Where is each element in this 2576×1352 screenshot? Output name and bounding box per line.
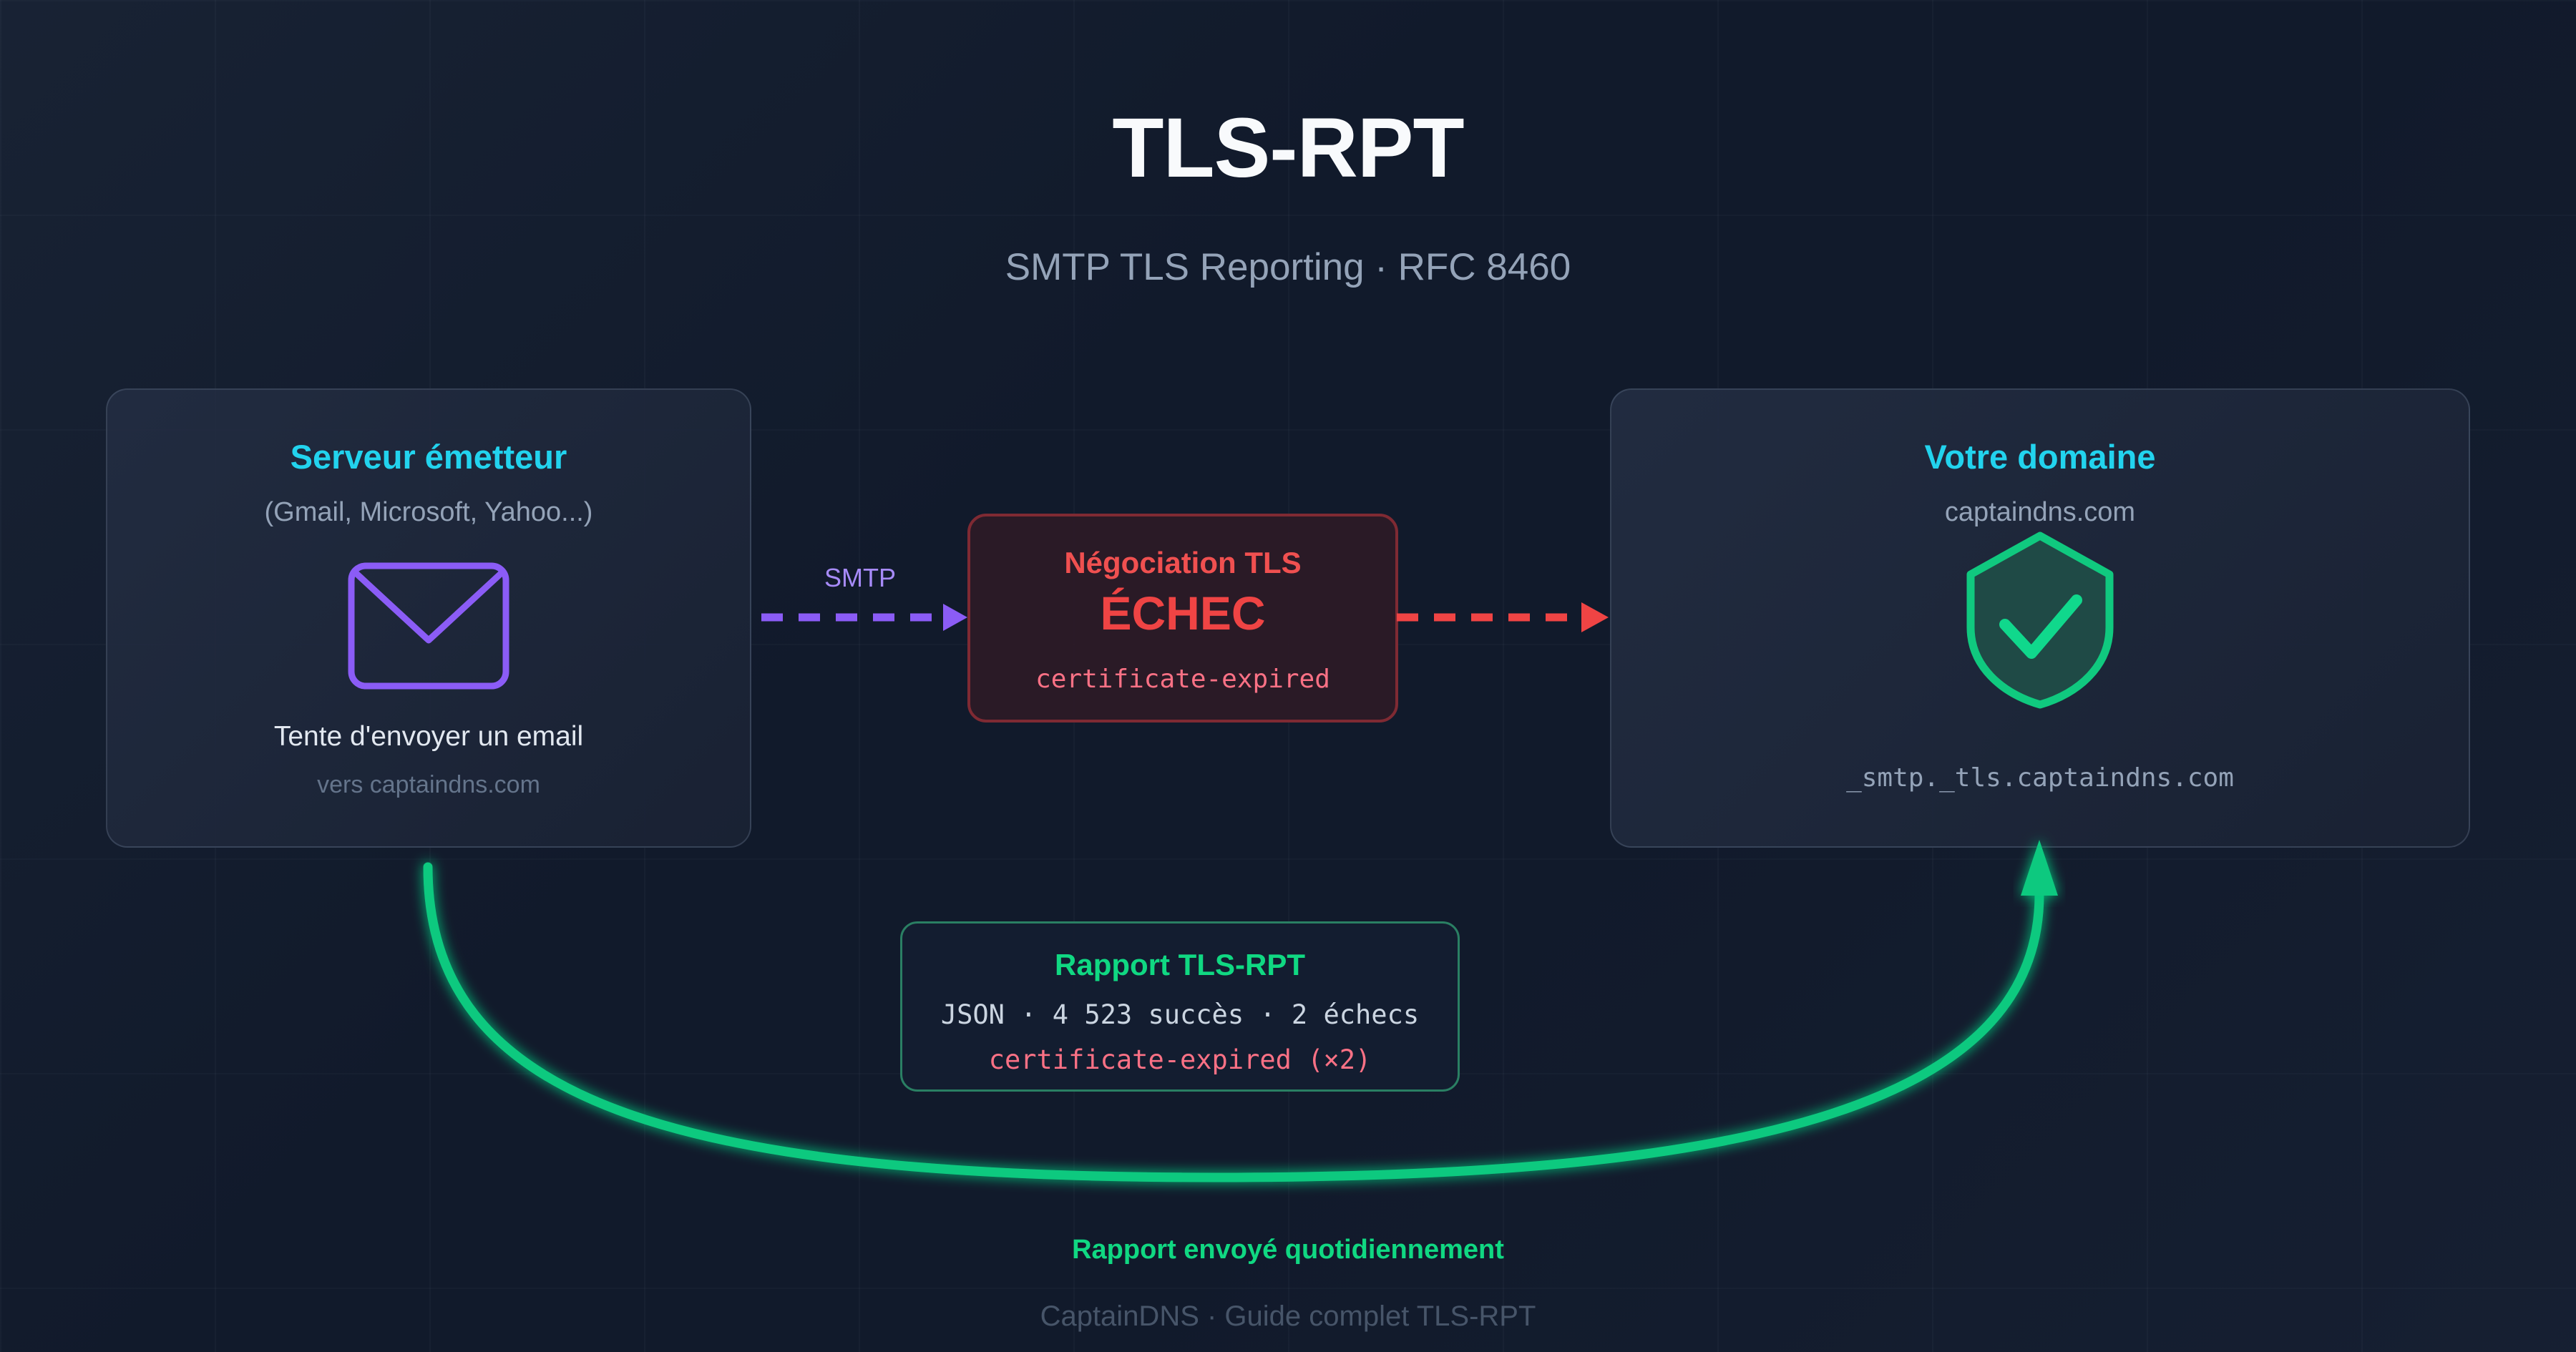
page-title: TLS-RPT [0, 106, 2576, 190]
domain-card-record: _smtp._tls.captaindns.com [1611, 765, 2469, 791]
tls-report-box: Rapport TLS-RPT JSON · 4 523 succès · 2 … [900, 921, 1460, 1092]
footer-credit: CaptainDNS · Guide complet TLS-RPT [0, 1302, 2576, 1331]
failure-status: ÉCHEC [970, 589, 1395, 637]
shield-check-icon [1961, 530, 2119, 710]
report-title: Rapport TLS-RPT [902, 950, 1458, 980]
report-code: certificate-expired (×2) [902, 1047, 1458, 1073]
diagram-canvas: TLS-RPT SMTP TLS Reporting · RFC 8460 Se… [0, 0, 2576, 1352]
shield-icon-wrap [1611, 530, 2469, 710]
sender-card-title: Serveur émetteur [107, 440, 750, 474]
report-frequency-note: Rapport envoyé quotidiennement [0, 1236, 2576, 1263]
smtp-dashed-arrow-icon [758, 592, 973, 642]
failure-title: Négociation TLS [970, 548, 1395, 578]
envelope-icon-wrap [107, 562, 750, 690]
sender-card-subtitle: (Gmail, Microsoft, Yahoo...) [107, 499, 750, 526]
envelope-icon [347, 562, 510, 690]
domain-card: Votre domaine captaindns.com _smtp._tls.… [1610, 388, 2470, 848]
failure-code: certificate-expired [970, 667, 1395, 692]
domain-card-title: Votre domaine [1611, 440, 2469, 474]
domain-card-subtitle: captaindns.com [1611, 499, 2469, 526]
tls-failure-box: Négociation TLS ÉCHEC certificate-expire… [967, 514, 1398, 722]
failure-dashed-arrow-icon [1394, 592, 1616, 642]
page-subtitle: SMTP TLS Reporting · RFC 8460 [0, 248, 2576, 286]
report-stats: JSON · 4 523 succès · 2 échecs [902, 1001, 1458, 1028]
smtp-arrow-label: SMTP [789, 565, 932, 591]
sender-card-caption: Tente d'envoyer un email [107, 722, 750, 750]
sender-card: Serveur émetteur (Gmail, Microsoft, Yaho… [106, 388, 751, 848]
sender-card-note: vers captaindns.com [107, 773, 750, 797]
